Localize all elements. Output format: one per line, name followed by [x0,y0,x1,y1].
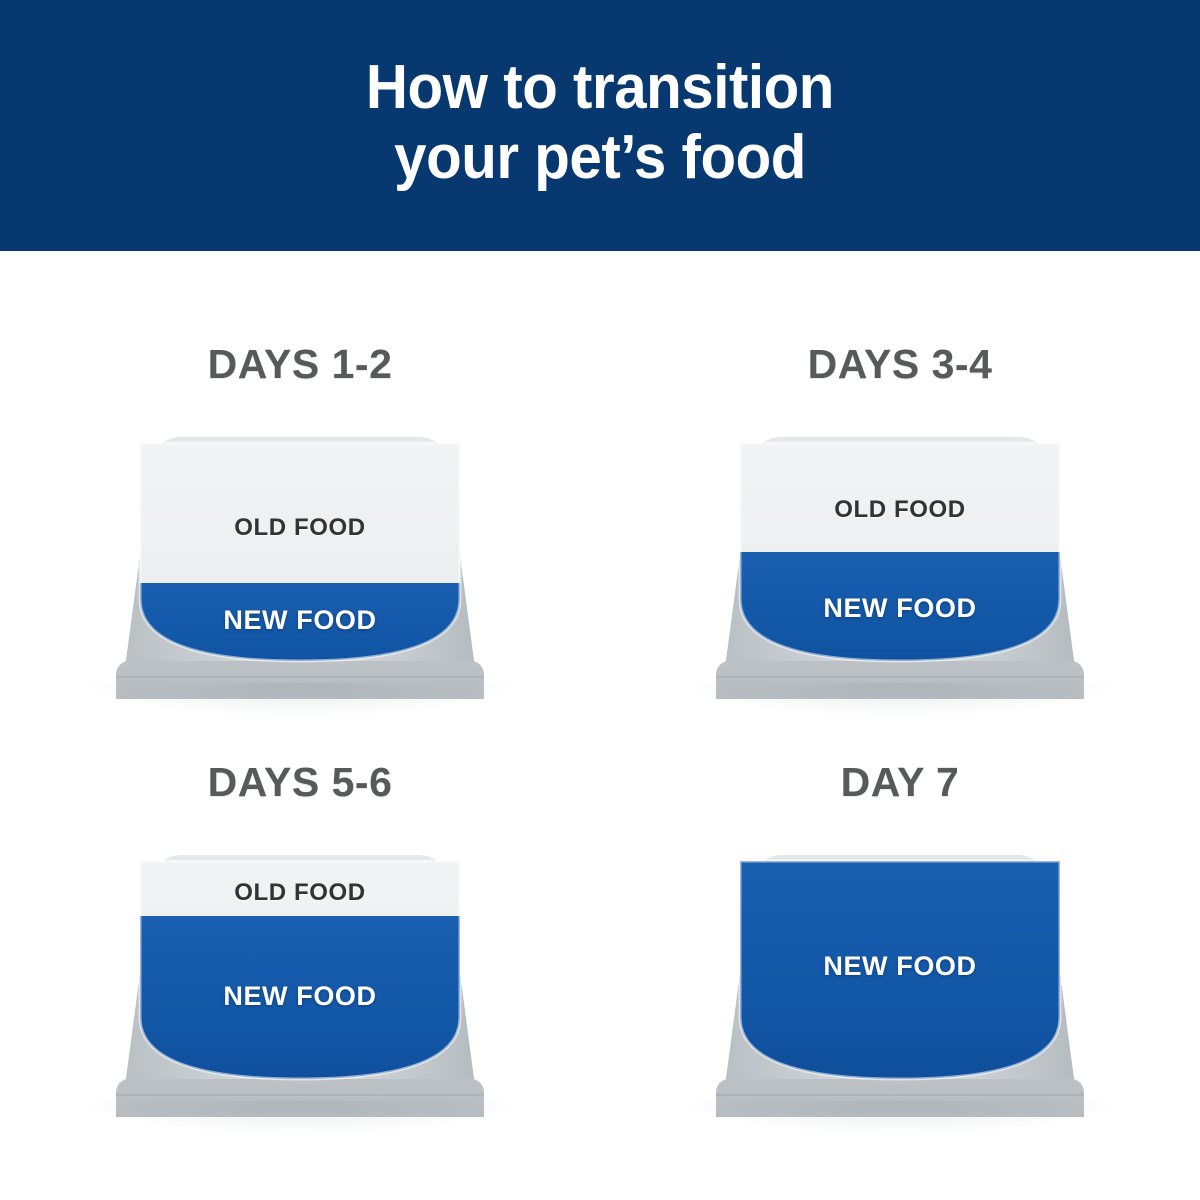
food-bowl-days-5-6: OLD FOOD NEW FOOD [60,821,540,1129]
stage-card-days-5-6: DAYS 5-6 [0,726,600,1200]
page-title-line-2: your pet’s food [394,123,806,192]
transition-stage-grid: DAYS 1-2 [0,251,1200,1200]
food-bowl-day-7: NEW FOOD [660,821,1140,1129]
bowl-graphic-4 [660,821,1140,1129]
stage-title-days-3-4: DAYS 3-4 [808,344,993,385]
bowl-graphic-1 [60,403,540,711]
food-bowl-days-3-4: OLD FOOD NEW FOOD [660,403,1140,711]
stage-title-day-7: DAY 7 [841,762,960,803]
page-header: How to transition your pet’s food [0,0,1200,251]
page-title-line-1: How to transition [366,53,834,122]
food-bowl-days-1-2: OLD FOOD NEW FOOD [60,403,540,711]
bowl-graphic-3 [60,821,540,1129]
stage-title-days-5-6: DAYS 5-6 [208,762,393,803]
stage-card-day-7: DAY 7 [600,726,1200,1200]
stage-card-days-3-4: DAYS 3-4 [600,251,1200,726]
bowl-graphic-2 [660,403,1140,711]
stage-title-days-1-2: DAYS 1-2 [208,344,393,385]
stage-card-days-1-2: DAYS 1-2 [0,251,600,726]
